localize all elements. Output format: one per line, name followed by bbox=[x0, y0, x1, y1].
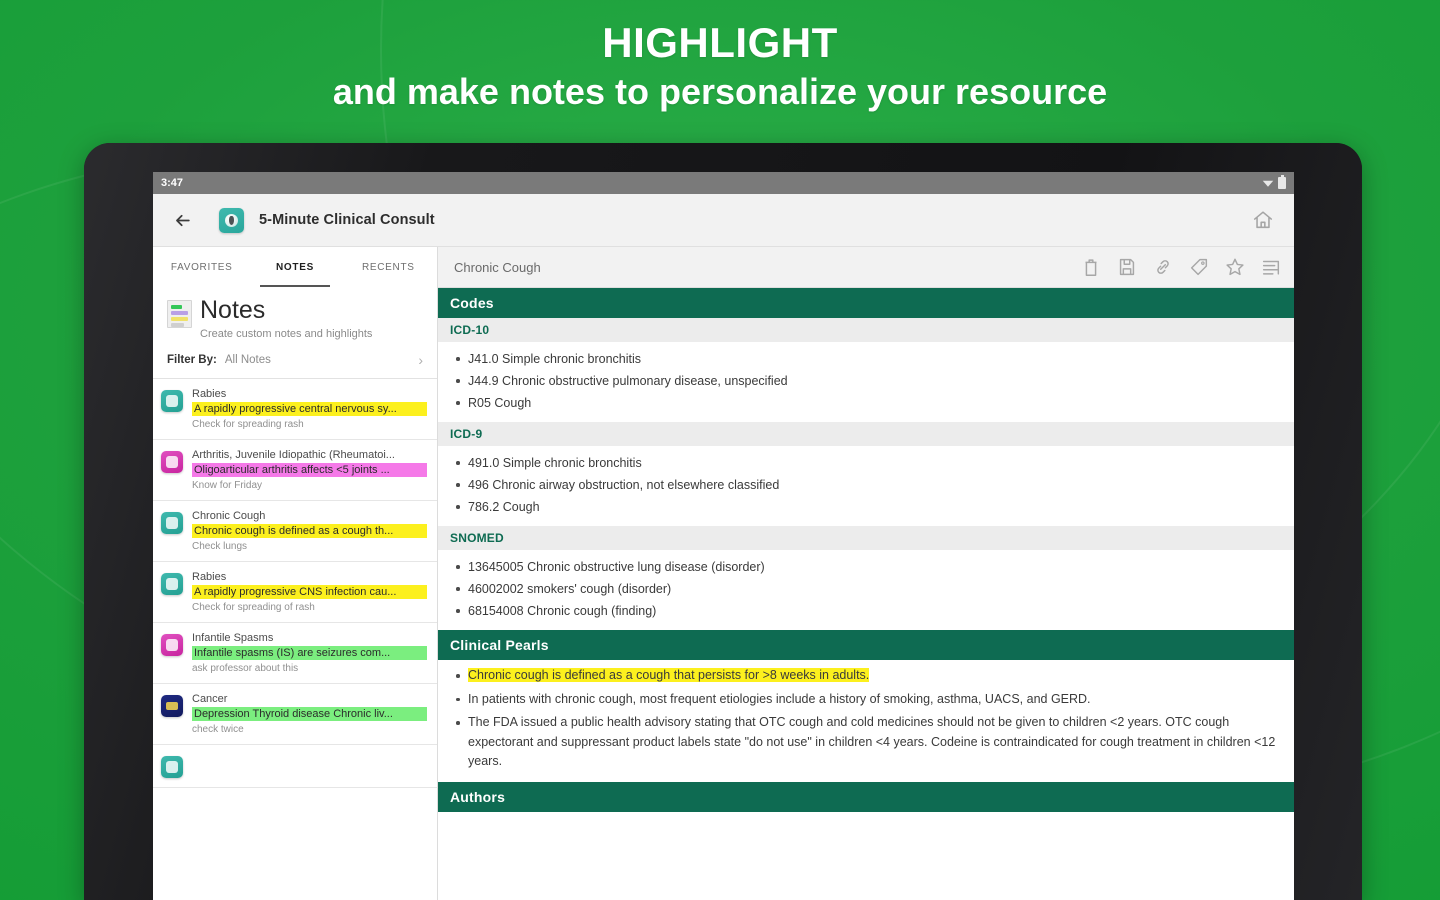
note-source-icon-inner bbox=[166, 578, 178, 590]
subsection-header-snomed: SNOMED bbox=[438, 526, 1294, 550]
note-title: Chronic Cough bbox=[192, 510, 427, 522]
tab-notes[interactable]: NOTES bbox=[248, 247, 341, 287]
notes-document-icon bbox=[167, 300, 192, 328]
note-source-icon bbox=[161, 390, 183, 412]
content-tool-icons bbox=[1080, 256, 1282, 278]
notes-panel-subtitle: Create custom notes and highlights bbox=[200, 328, 372, 340]
app-logo-glyph bbox=[225, 214, 238, 227]
note-source-icon bbox=[161, 512, 183, 534]
sidebar: FAVORITES NOTES RECENTS Notes Create cus… bbox=[153, 247, 438, 900]
list-item[interactable]: Infantile Spasms Infantile spasms (IS) a… bbox=[153, 623, 437, 684]
note-body bbox=[192, 754, 427, 778]
notes-list[interactable]: Rabies A rapidly progressive central ner… bbox=[153, 379, 437, 900]
delete-icon[interactable] bbox=[1080, 256, 1102, 278]
filter-by-label: Filter By: bbox=[167, 354, 217, 366]
tablet-device-frame: 3:47 5-Minute Clinical Consult bbox=[84, 143, 1362, 900]
list-item[interactable]: Rabies A rapidly progressive central ner… bbox=[153, 379, 437, 440]
notes-icon-line-1 bbox=[171, 305, 182, 309]
tab-favorites[interactable]: FAVORITES bbox=[155, 247, 248, 287]
status-indicators bbox=[1262, 177, 1286, 189]
tablet-screen: 3:47 5-Minute Clinical Consult bbox=[153, 172, 1294, 900]
battery-icon bbox=[1278, 177, 1286, 189]
code-item: 13645005 Chronic obstructive lung diseas… bbox=[450, 556, 1282, 578]
content-toolbar: Chronic Cough bbox=[438, 247, 1294, 288]
banner-headline: HIGHLIGHT bbox=[0, 18, 1440, 68]
note-body: Cancer Depression Thyroid disease Chroni… bbox=[192, 693, 427, 735]
note-source-icon-inner bbox=[166, 639, 178, 651]
outline-list-icon[interactable] bbox=[1260, 256, 1282, 278]
filter-by-row[interactable]: Filter By: All Notes › bbox=[153, 342, 437, 379]
note-source-icon-inner bbox=[166, 517, 178, 529]
code-item: 46002002 smokers' cough (disorder) bbox=[450, 578, 1282, 600]
list-item[interactable]: Rabies A rapidly progressive CNS infecti… bbox=[153, 562, 437, 623]
section-header-codes: Codes bbox=[438, 288, 1294, 318]
content-panel: Chronic Cough bbox=[438, 247, 1294, 900]
app-logo-icon bbox=[219, 208, 244, 233]
note-title: Rabies bbox=[192, 388, 427, 400]
tab-recents[interactable]: RECENTS bbox=[342, 247, 435, 287]
pearl-item: Chronic cough is defined as a cough that… bbox=[450, 666, 1282, 686]
note-title: Arthritis, Juvenile Idiopathic (Rheumato… bbox=[192, 449, 427, 461]
filter-by-value: All Notes bbox=[225, 354, 271, 366]
note-title: Infantile Spasms bbox=[192, 632, 427, 644]
notes-icon-line-4 bbox=[171, 323, 184, 327]
code-item: 496 Chronic airway obstruction, not else… bbox=[450, 474, 1282, 496]
page-title: 5-Minute Clinical Consult bbox=[259, 212, 435, 228]
code-item: 491.0 Simple chronic bronchitis bbox=[450, 452, 1282, 474]
note-body: Arthritis, Juvenile Idiopathic (Rheumato… bbox=[192, 449, 427, 491]
banner-subheadline: and make notes to personalize your resou… bbox=[0, 68, 1440, 116]
note-source-icon-inner bbox=[166, 761, 178, 773]
notes-panel-header: Notes Create custom notes and highlights bbox=[153, 287, 437, 342]
tag-icon[interactable] bbox=[1188, 256, 1210, 278]
note-title: Rabies bbox=[192, 571, 427, 583]
note-highlight: Chronic cough is defined as a cough th..… bbox=[192, 524, 427, 538]
code-list-icd9: 491.0 Simple chronic bronchitis 496 Chro… bbox=[438, 446, 1294, 526]
note-body: Rabies A rapidly progressive central ner… bbox=[192, 388, 427, 430]
note-source-icon bbox=[161, 634, 183, 656]
code-item: 786.2 Cough bbox=[450, 496, 1282, 518]
note-highlight: A rapidly progressive central nervous sy… bbox=[192, 402, 427, 416]
app-bar: 5-Minute Clinical Consult bbox=[153, 194, 1294, 247]
note-memo: Check lungs bbox=[192, 541, 427, 552]
list-item-partial[interactable] bbox=[153, 745, 437, 788]
main-layout: FAVORITES NOTES RECENTS Notes Create cus… bbox=[153, 247, 1294, 900]
note-source-icon bbox=[161, 451, 183, 473]
pearl-item: In patients with chronic cough, most fre… bbox=[450, 690, 1282, 710]
note-highlight: Infantile spasms (IS) are seizures com..… bbox=[192, 646, 427, 660]
save-document-icon[interactable] bbox=[1116, 256, 1138, 278]
note-memo: ask professor about this bbox=[192, 663, 427, 674]
note-source-icon-inner bbox=[166, 456, 178, 468]
note-body: Chronic Cough Chronic cough is defined a… bbox=[192, 510, 427, 552]
note-source-icon bbox=[161, 573, 183, 595]
star-icon[interactable] bbox=[1224, 256, 1246, 278]
pearl-item: The FDA issued a public health advisory … bbox=[450, 713, 1282, 772]
wifi-icon bbox=[1262, 178, 1274, 188]
note-memo: Check for spreading of rash bbox=[192, 602, 427, 613]
breadcrumb: Chronic Cough bbox=[454, 260, 541, 275]
link-share-icon[interactable] bbox=[1152, 256, 1174, 278]
note-source-icon-inner bbox=[166, 702, 178, 710]
sidebar-tabs: FAVORITES NOTES RECENTS bbox=[153, 247, 437, 287]
promo-banner: HIGHLIGHT and make notes to personalize … bbox=[0, 0, 1440, 116]
code-item: J44.9 Chronic obstructive pulmonary dise… bbox=[450, 370, 1282, 392]
status-clock: 3:47 bbox=[161, 177, 183, 189]
code-list-snomed: 13645005 Chronic obstructive lung diseas… bbox=[438, 550, 1294, 630]
code-list-icd10: J41.0 Simple chronic bronchitis J44.9 Ch… bbox=[438, 342, 1294, 422]
notes-panel-text: Notes Create custom notes and highlights bbox=[200, 295, 372, 340]
note-memo: Check for spreading rash bbox=[192, 419, 427, 430]
list-item[interactable]: Cancer Depression Thyroid disease Chroni… bbox=[153, 684, 437, 745]
note-source-icon bbox=[161, 756, 183, 778]
subsection-header-icd10: ICD-10 bbox=[438, 318, 1294, 342]
subsection-header-icd9: ICD-9 bbox=[438, 422, 1294, 446]
back-arrow-glyph bbox=[173, 211, 192, 230]
section-header-authors: Authors bbox=[438, 782, 1294, 812]
list-item[interactable]: Arthritis, Juvenile Idiopathic (Rheumato… bbox=[153, 440, 437, 501]
note-source-icon bbox=[161, 695, 183, 717]
notes-panel-title: Notes bbox=[200, 295, 372, 325]
note-body: Rabies A rapidly progressive CNS infecti… bbox=[192, 571, 427, 613]
section-header-clinical-pearls: Clinical Pearls bbox=[438, 630, 1294, 660]
home-glyph bbox=[1252, 209, 1274, 231]
chevron-right-icon: › bbox=[418, 352, 423, 368]
clinical-pearls-list: Chronic cough is defined as a cough that… bbox=[438, 660, 1294, 782]
back-arrow-icon[interactable] bbox=[167, 205, 197, 235]
code-item: J41.0 Simple chronic bronchitis bbox=[450, 348, 1282, 370]
code-item: 68154008 Chronic cough (finding) bbox=[450, 600, 1282, 622]
note-body: Infantile Spasms Infantile spasms (IS) a… bbox=[192, 632, 427, 674]
note-highlight: A rapidly progressive CNS infection cau.… bbox=[192, 585, 427, 599]
note-highlight: Depression Thyroid disease Chronic liv..… bbox=[192, 707, 427, 721]
note-highlight: Oligoarticular arthritis affects <5 join… bbox=[192, 463, 427, 477]
note-title: Cancer bbox=[192, 693, 427, 705]
notes-icon-line-2 bbox=[171, 311, 188, 315]
notes-icon-line-3 bbox=[171, 317, 188, 321]
pearl-highlight: Chronic cough is defined as a cough that… bbox=[468, 668, 869, 682]
android-status-bar: 3:47 bbox=[153, 172, 1294, 194]
note-source-icon-inner bbox=[166, 395, 178, 407]
note-memo: check twice bbox=[192, 724, 427, 735]
home-icon[interactable] bbox=[1246, 203, 1280, 237]
note-memo: Know for Friday bbox=[192, 480, 427, 491]
list-item[interactable]: Chronic Cough Chronic cough is defined a… bbox=[153, 501, 437, 562]
code-item: R05 Cough bbox=[450, 392, 1282, 414]
